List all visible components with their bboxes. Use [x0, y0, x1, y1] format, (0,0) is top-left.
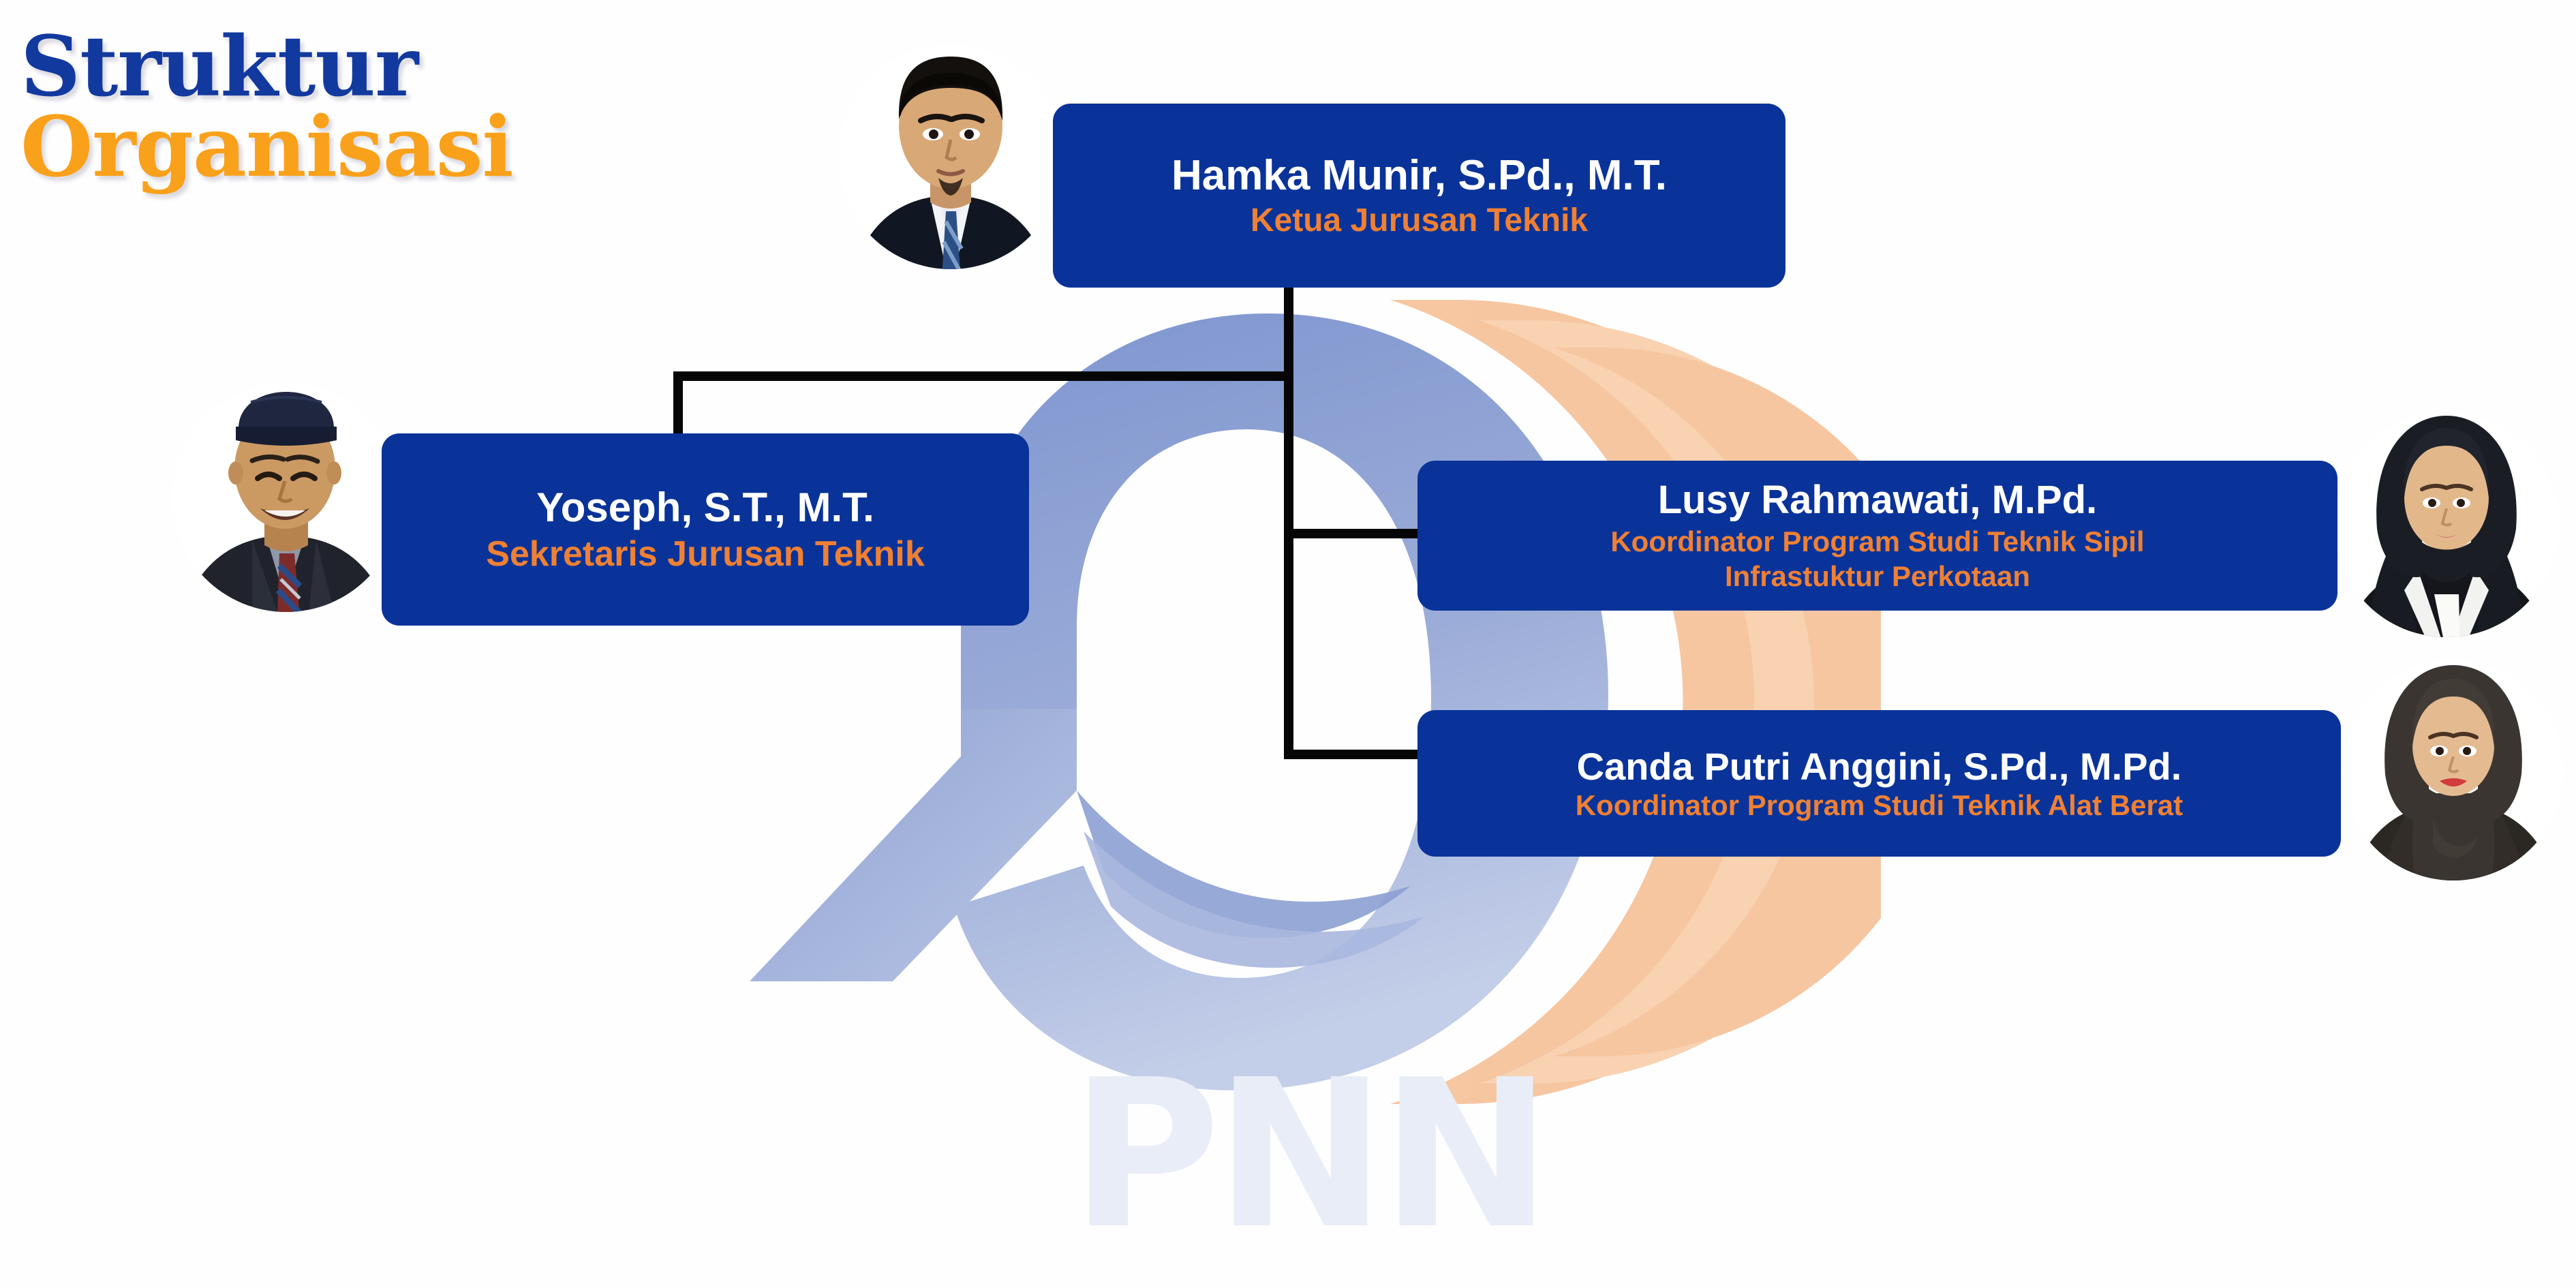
- connector-trunk-vertical: [1284, 288, 1293, 759]
- portrait-yoseph: [170, 361, 402, 634]
- connector-right-lower-horizontal: [1288, 750, 1424, 759]
- portrait-lusy-rahmawati: [2331, 395, 2562, 654]
- org-node-name: Lusy Rahmawati, M.Pd.: [1658, 478, 2098, 523]
- portrait-canda-putri-anggini: [2337, 647, 2569, 893]
- org-node-role-line-1: Koordinator Program Studi Teknik Sipil: [1610, 525, 2144, 557]
- org-node-role: Koordinator Program Studi Teknik Alat Be…: [1576, 789, 2183, 821]
- org-node-name: Canda Putri Anggini, S.Pd., M.Pd.: [1577, 746, 2182, 788]
- org-node-role: Ketua Jurusan Teknik: [1251, 202, 1588, 239]
- connector-left-horizontal: [673, 371, 1288, 381]
- org-node-ketua-jurusan[interactable]: Hamka Munir, S.Pd., M.T. Ketua Jurusan T…: [1053, 104, 1785, 288]
- logo-blue-mark: [750, 313, 1608, 1090]
- pnn-watermark-text: PNN: [981, 1043, 1636, 1268]
- connector-left-drop: [673, 371, 683, 440]
- org-node-role-line-2: Infrastuktur Perkotaan: [1725, 560, 2030, 592]
- page-title: Struktur Organisasi: [20, 26, 513, 187]
- institution-logo-watermark: [668, 273, 1881, 1131]
- portrait-hamka-munir: [835, 17, 1067, 290]
- org-node-sekretaris-jurusan[interactable]: Yoseph, S.T., M.T. Sekretaris Jurusan Te…: [382, 433, 1029, 626]
- logo-orange-arcs: [1390, 300, 1881, 1104]
- org-node-koordinator-teknik-sipil[interactable]: Lusy Rahmawati, M.Pd. Koordinator Progra…: [1417, 461, 2337, 611]
- page-title-line-2: Organisasi: [20, 106, 513, 187]
- connector-right-upper-horizontal: [1288, 529, 1424, 538]
- org-node-name: Yoseph, S.T., M.T.: [536, 485, 874, 530]
- page-title-line-1: Struktur: [20, 26, 513, 106]
- org-chart-canvas: PNN Struktur Organisasi: [0, 0, 2576, 1288]
- org-node-name: Hamka Munir, S.Pd., M.T.: [1171, 152, 1667, 199]
- org-node-koordinator-teknik-alat-berat[interactable]: Canda Putri Anggini, S.Pd., M.Pd. Koordi…: [1417, 710, 2341, 857]
- org-node-role: Sekretaris Jurusan Teknik: [486, 534, 925, 574]
